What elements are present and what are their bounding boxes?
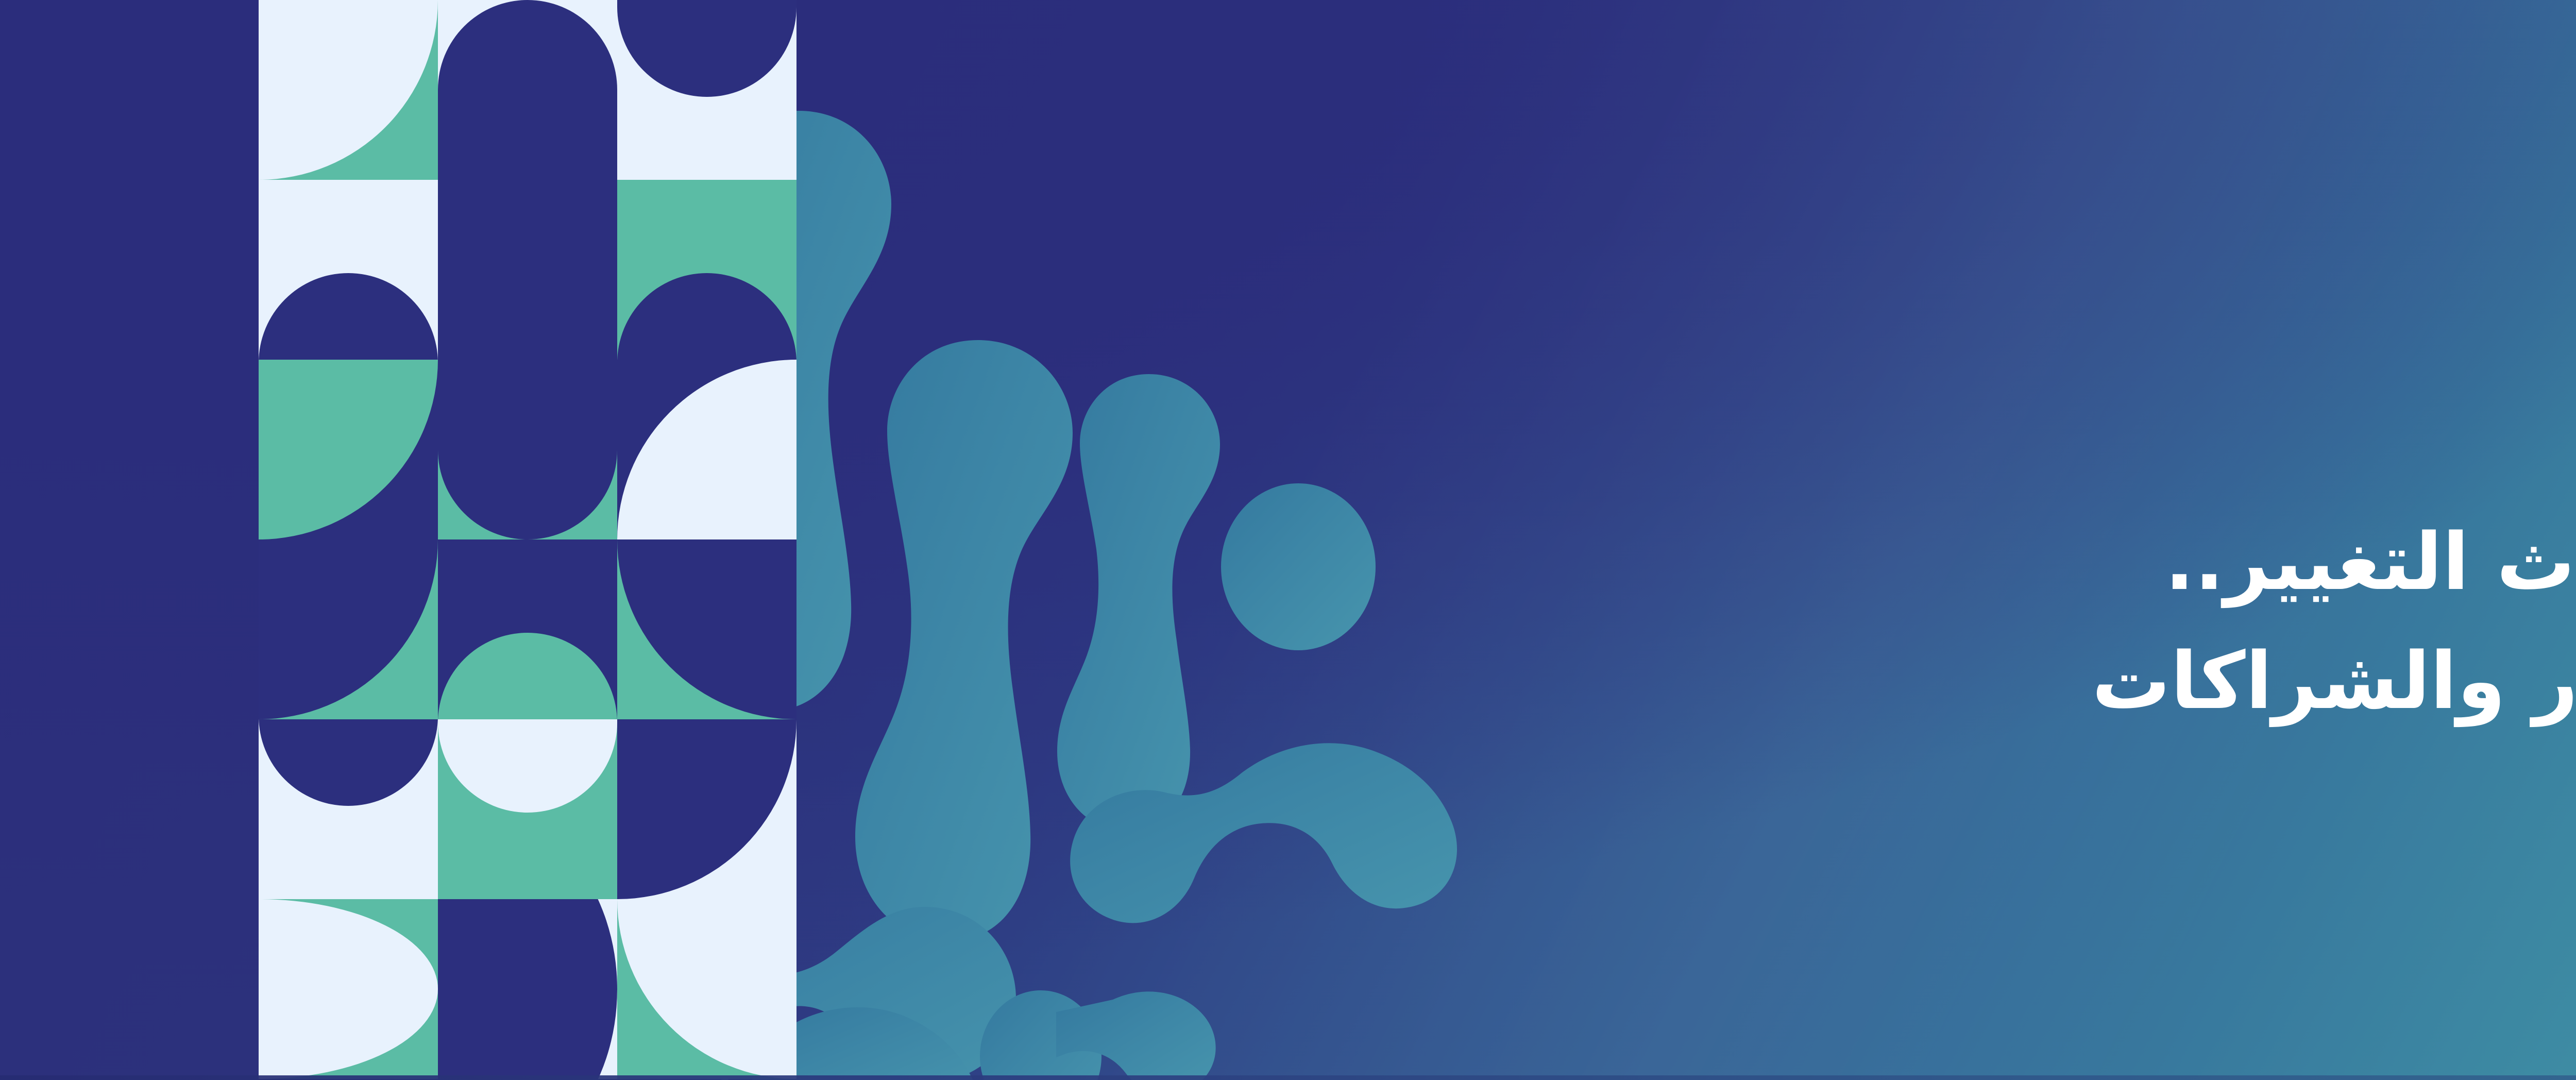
pattern-tile bbox=[259, 719, 438, 899]
pattern-tile bbox=[259, 360, 438, 539]
pattern-tile bbox=[259, 539, 438, 719]
headline-line-2: منصة للابتكار والشراكات bbox=[1498, 621, 2576, 740]
pattern-tile bbox=[438, 899, 617, 1079]
pattern-tile bbox=[259, 899, 438, 1079]
pattern-tile bbox=[617, 719, 796, 899]
headline-block: رؤى تحدث التغيير.. منصة للابتكار والشراك… bbox=[1498, 502, 2576, 740]
pattern-tile bbox=[438, 180, 617, 360]
pattern-tile bbox=[617, 899, 796, 1079]
pattern-tile bbox=[438, 360, 617, 539]
pattern-tile bbox=[617, 360, 796, 539]
pattern-tile bbox=[438, 719, 617, 899]
bottom-divider bbox=[0, 1075, 2576, 1080]
pattern-tile bbox=[617, 539, 796, 719]
pattern-tile bbox=[438, 0, 617, 180]
pattern-tile bbox=[617, 180, 796, 360]
geometric-tile-grid bbox=[259, 0, 796, 1080]
pattern-tile bbox=[259, 0, 438, 180]
pattern-tile bbox=[259, 180, 438, 360]
headline-line-1: رؤى تحدث التغيير.. bbox=[1498, 502, 2576, 621]
smf-banner: THE SAUDI MICE FORUM رؤى تحدث التغيير.. … bbox=[0, 0, 2576, 1080]
pattern-tile bbox=[617, 0, 796, 180]
blob-shapes bbox=[721, 111, 1457, 1080]
pattern-tile bbox=[438, 539, 617, 719]
organic-blob-field bbox=[721, 0, 1494, 1080]
